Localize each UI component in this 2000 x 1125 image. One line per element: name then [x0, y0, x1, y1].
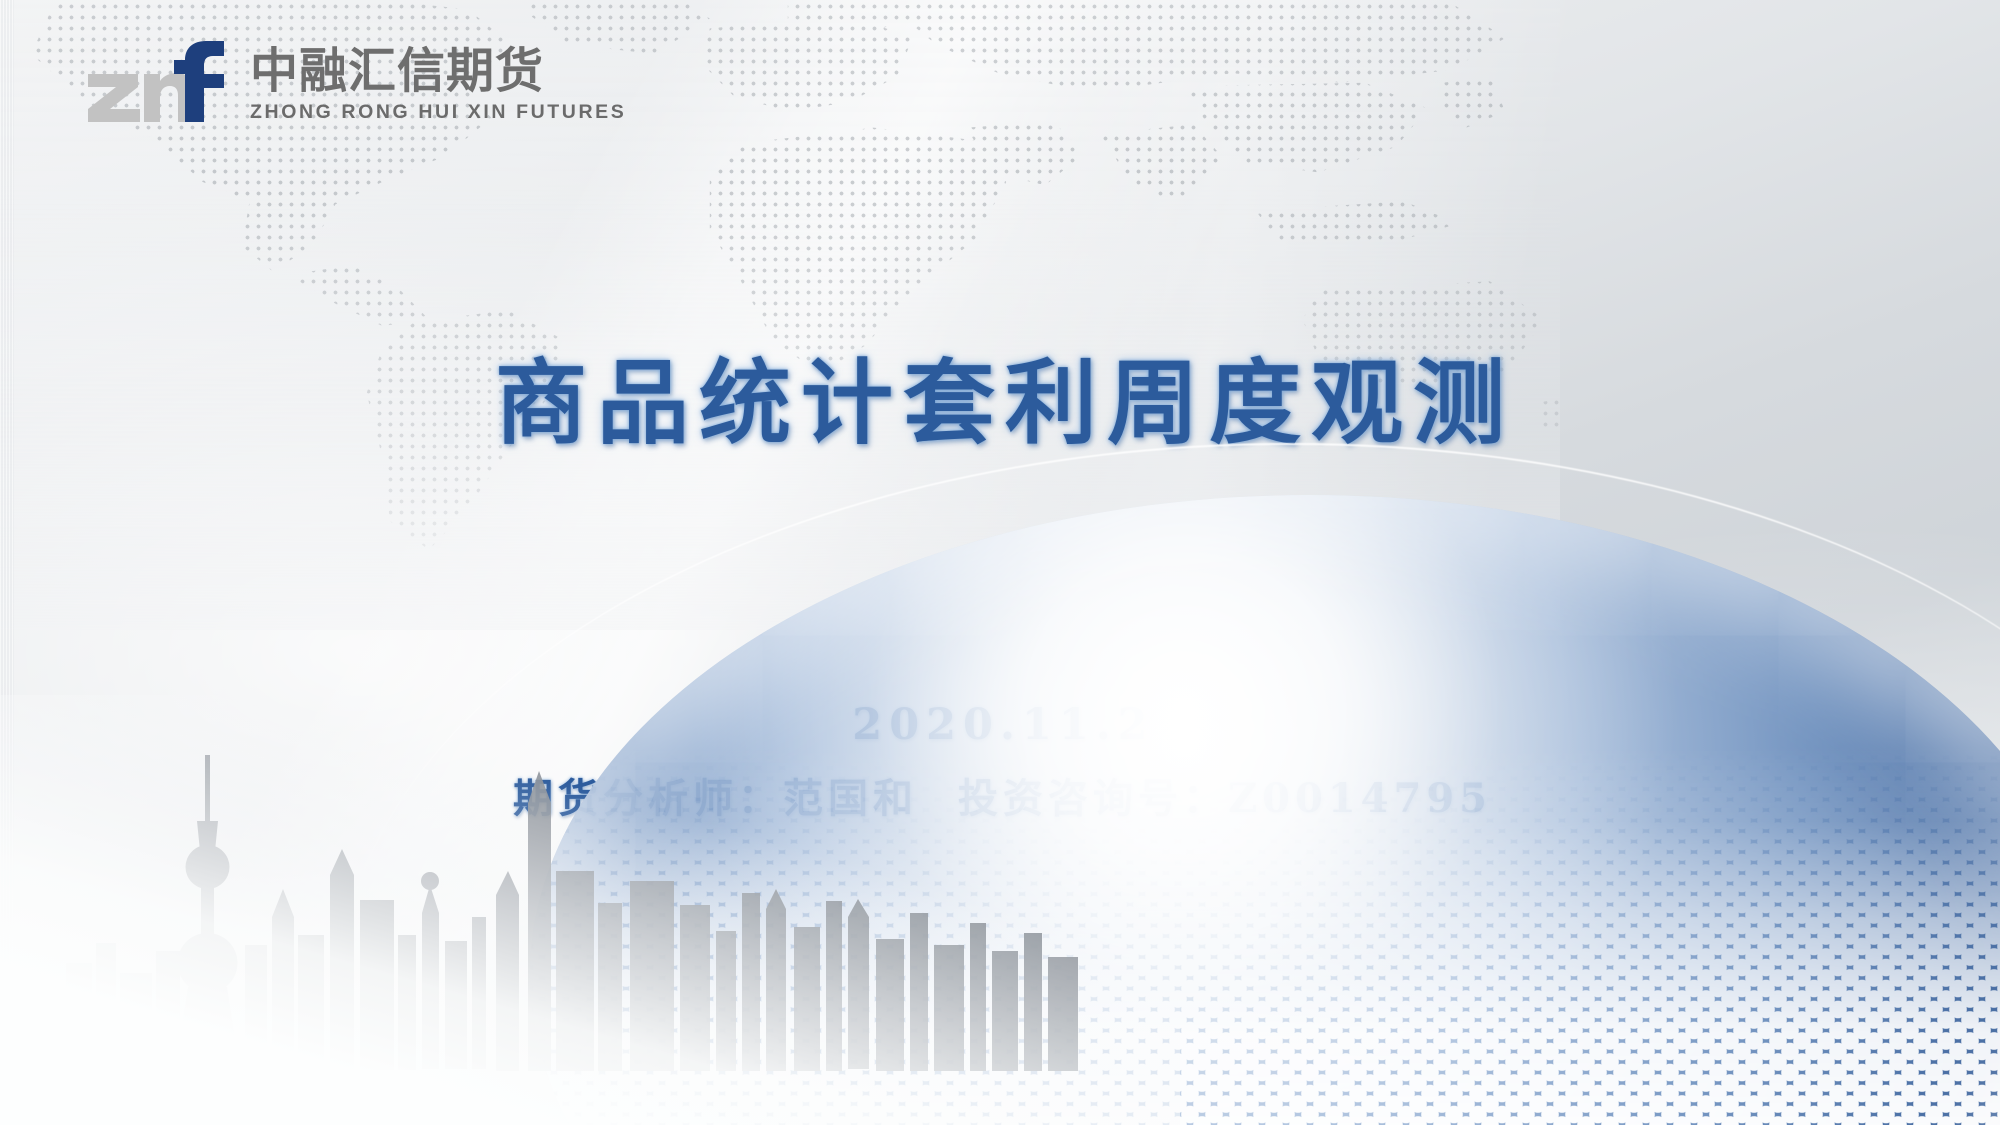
logo-company-name-cn: 中融汇信期货: [250, 47, 626, 97]
analyst-name: 范国和: [783, 775, 918, 822]
slide-title: 商品统计套利周度观测: [0, 352, 2000, 455]
byline-block: 2020.11.2 期货分析师：范国和投资咨询号：Z0014795: [0, 700, 2000, 824]
logo-wordmark: 中融汇信期货 ZHONG RONG HUI XIN FUTURES: [250, 47, 626, 126]
license-number: Z0014795: [1228, 775, 1492, 822]
title-slide: 中融汇信期货 ZHONG RONG HUI XIN FUTURES 商品统计套利…: [0, 0, 2000, 1125]
title-block: 商品统计套利周度观测: [0, 352, 2000, 455]
analyst-label: 期货分析师：: [513, 775, 783, 822]
znf-monogram-icon: [84, 40, 234, 126]
logo-company-name-en: ZHONG RONG HUI XIN FUTURES: [250, 101, 626, 124]
left-edge-rules: [0, 0, 14, 1125]
slide-date: 2020.11.2: [0, 700, 2000, 750]
license-label: 投资咨询号：: [958, 775, 1228, 822]
company-logo: 中融汇信期货 ZHONG RONG HUI XIN FUTURES: [84, 40, 626, 126]
author-line: 期货分析师：范国和投资咨询号：Z0014795: [0, 766, 2000, 824]
